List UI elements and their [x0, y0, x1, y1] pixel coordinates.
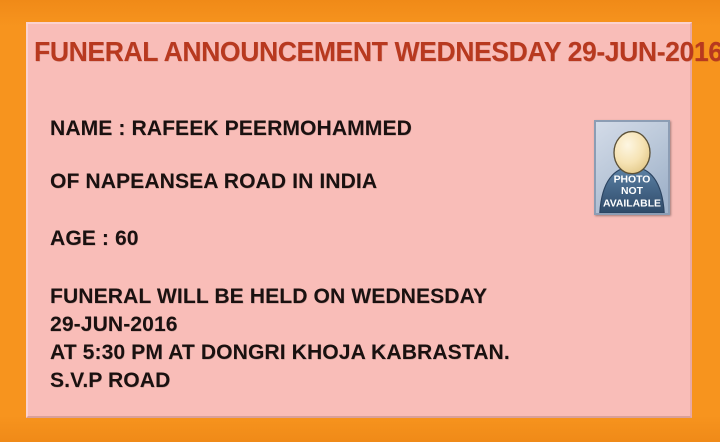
funeral-details-block: FUNERAL WILL BE HELD ON WEDNESDAY 29-JUN… [50, 282, 519, 394]
announcement-card: FUNERAL ANNOUNCEMENT WEDNESDAY 29-JUN-20… [26, 22, 692, 418]
funeral-details-line-1: FUNERAL WILL BE HELD ON WEDNESDAY [50, 282, 510, 310]
photo-placeholder-line-3: AVAILABLE [603, 198, 661, 209]
announcement-title: FUNERAL ANNOUNCEMENT WEDNESDAY 29-JUN-20… [34, 36, 667, 68]
deceased-name-line: NAME : RAFEEK PEERMOHAMMED [50, 116, 412, 141]
photo-placeholder-line-1: PHOTO [614, 174, 651, 185]
funeral-details-line-4: S.V.P ROAD [50, 366, 510, 394]
person-silhouette-icon: PHOTO NOT AVAILABLE [596, 122, 668, 213]
funeral-details-line-2: 29-JUN-2016 [50, 310, 510, 338]
funeral-announcement-poster: FUNERAL ANNOUNCEMENT WEDNESDAY 29-JUN-20… [0, 0, 720, 442]
deceased-address-line: OF NAPEANSEA ROAD IN INDIA [50, 169, 377, 194]
photo-placeholder-line-2: NOT [621, 186, 644, 197]
deceased-age-line: AGE : 60 [50, 226, 139, 251]
funeral-details-line-3: AT 5:30 PM AT DONGRI KHOJA KABRASTAN. [50, 338, 510, 366]
photo-not-available-placeholder: PHOTO NOT AVAILABLE [594, 120, 670, 215]
